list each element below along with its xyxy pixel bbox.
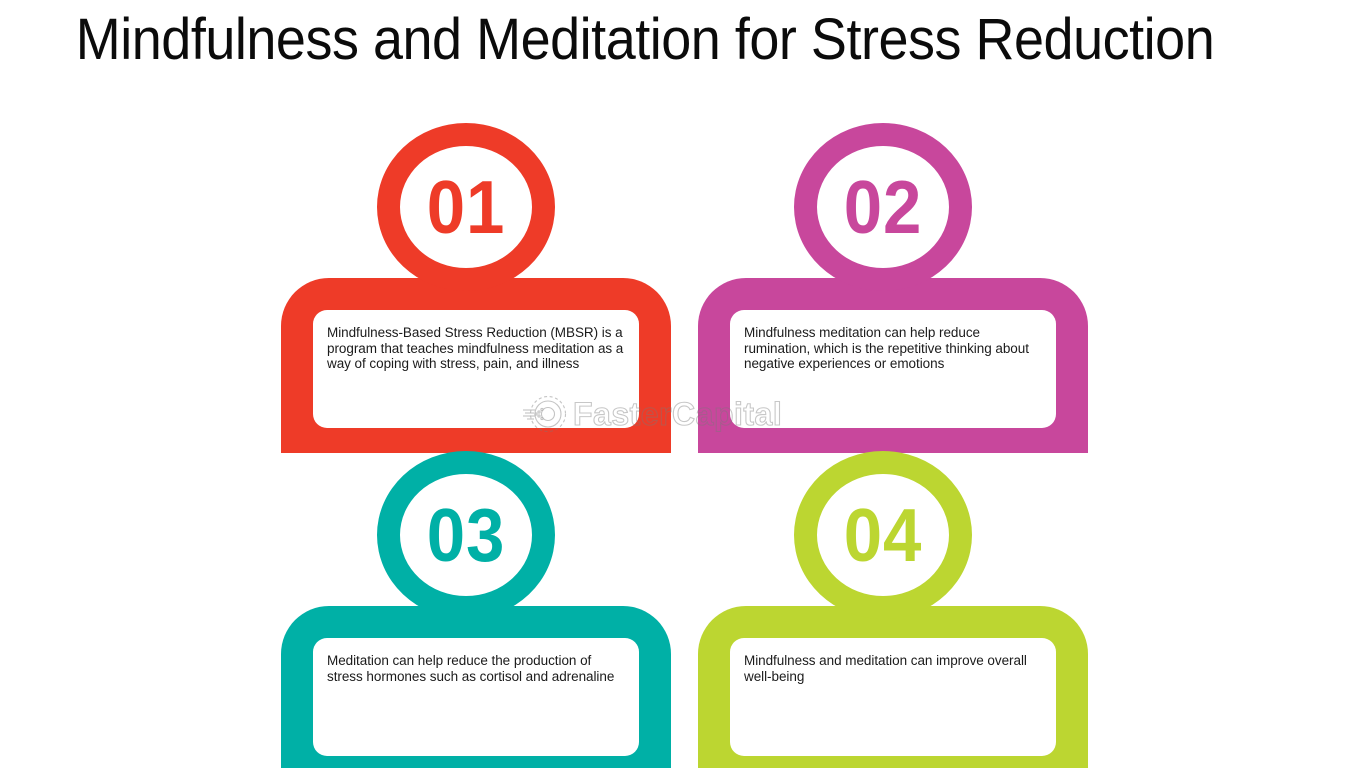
card-text-02: Mindfulness meditation can help reduce r…: [744, 325, 1042, 372]
card-panel-04: Mindfulness and meditation can improve o…: [730, 638, 1056, 756]
card-panel-03: Meditation can help reduce the productio…: [313, 638, 639, 756]
infographic-card-03[interactable]: 03 Meditation can help reduce the produc…: [281, 451, 671, 768]
card-number-03: 03: [384, 451, 548, 619]
card-number-01: 01: [384, 123, 548, 291]
card-text-03: Meditation can help reduce the productio…: [327, 653, 625, 684]
card-panel-02: Mindfulness meditation can help reduce r…: [730, 310, 1056, 428]
card-text-01: Mindfulness-Based Stress Reduction (MBSR…: [327, 325, 625, 372]
slide-canvas: Mindfulness and Meditation for Stress Re…: [0, 0, 1348, 768]
infographic-card-01[interactable]: 01 Mindfulness-Based Stress Reduction (M…: [281, 123, 671, 453]
card-number-02: 02: [801, 123, 965, 291]
infographic-card-04[interactable]: 04 Mindfulness and meditation can improv…: [698, 451, 1088, 768]
card-panel-01: Mindfulness-Based Stress Reduction (MBSR…: [313, 310, 639, 428]
page-title: Mindfulness and Meditation for Stress Re…: [45, 6, 1245, 74]
card-number-04: 04: [801, 451, 965, 619]
infographic-card-02[interactable]: 02 Mindfulness meditation can help reduc…: [698, 123, 1088, 453]
card-text-04: Mindfulness and meditation can improve o…: [744, 653, 1042, 684]
